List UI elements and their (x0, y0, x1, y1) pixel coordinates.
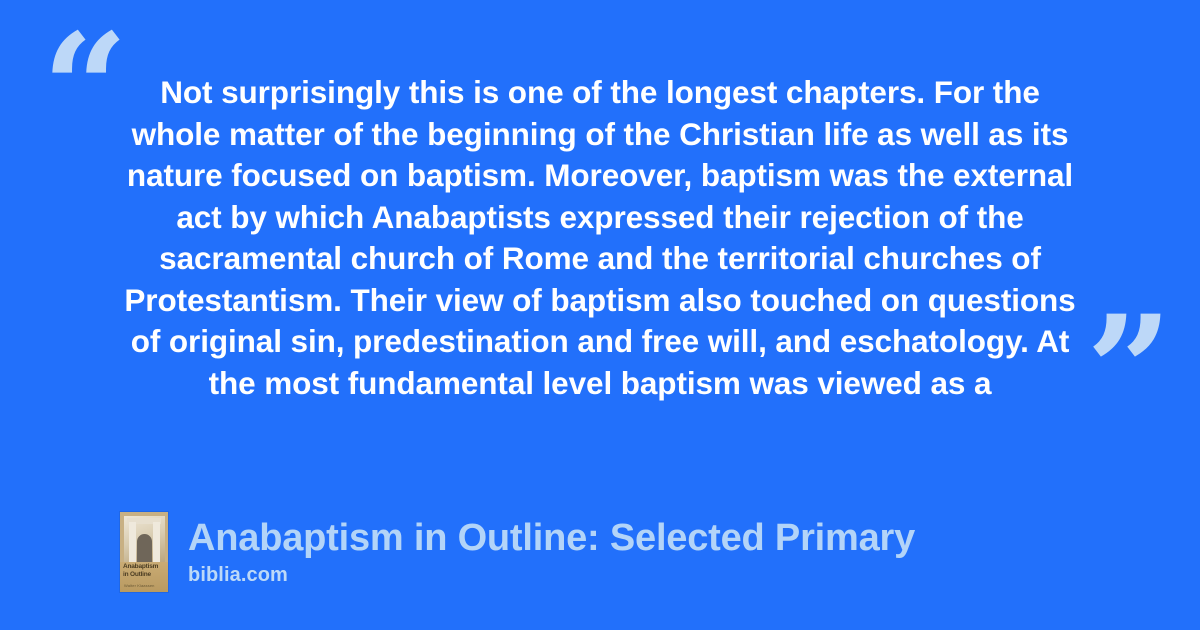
quote-card: “ ” Not surprisingly this is one of the … (0, 0, 1200, 630)
quote-line: sacramental church of Rome and the terri… (100, 238, 1100, 280)
quote-line: Protestantism. Their view of baptism als… (100, 280, 1100, 322)
cover-title-line-2: in Outline (123, 571, 151, 578)
quote-line: act by which Anabaptists expressed their… (100, 197, 1100, 239)
quote-line: Not surprisingly this is one of the long… (100, 72, 1100, 114)
attribution-text-block: Anabaptism in Outline: Selected Primary … (188, 516, 915, 588)
cover-title-line-1: Anabaptism (123, 563, 158, 570)
cover-title-text: Anabaptism in Outline (123, 563, 165, 578)
cover-author-text: Walter Klaassen (124, 583, 154, 588)
quote-text-block: Not surprisingly this is one of the long… (100, 72, 1100, 404)
attribution-footer: Anabaptism in Outline Walter Klaassen An… (120, 512, 915, 592)
quote-line: of original sin, predestination and free… (100, 321, 1100, 363)
quote-line: whole matter of the beginning of the Chr… (100, 114, 1100, 156)
book-title: Anabaptism in Outline: Selected Primary (188, 516, 915, 560)
book-cover-thumbnail: Anabaptism in Outline Walter Klaassen (120, 512, 168, 592)
quote-line: nature focused on baptism. Moreover, bap… (100, 155, 1100, 197)
site-name: biblia.com (188, 562, 915, 588)
book-cover-artwork (120, 512, 168, 592)
quote-line: the most fundamental level baptism was v… (100, 363, 1100, 405)
